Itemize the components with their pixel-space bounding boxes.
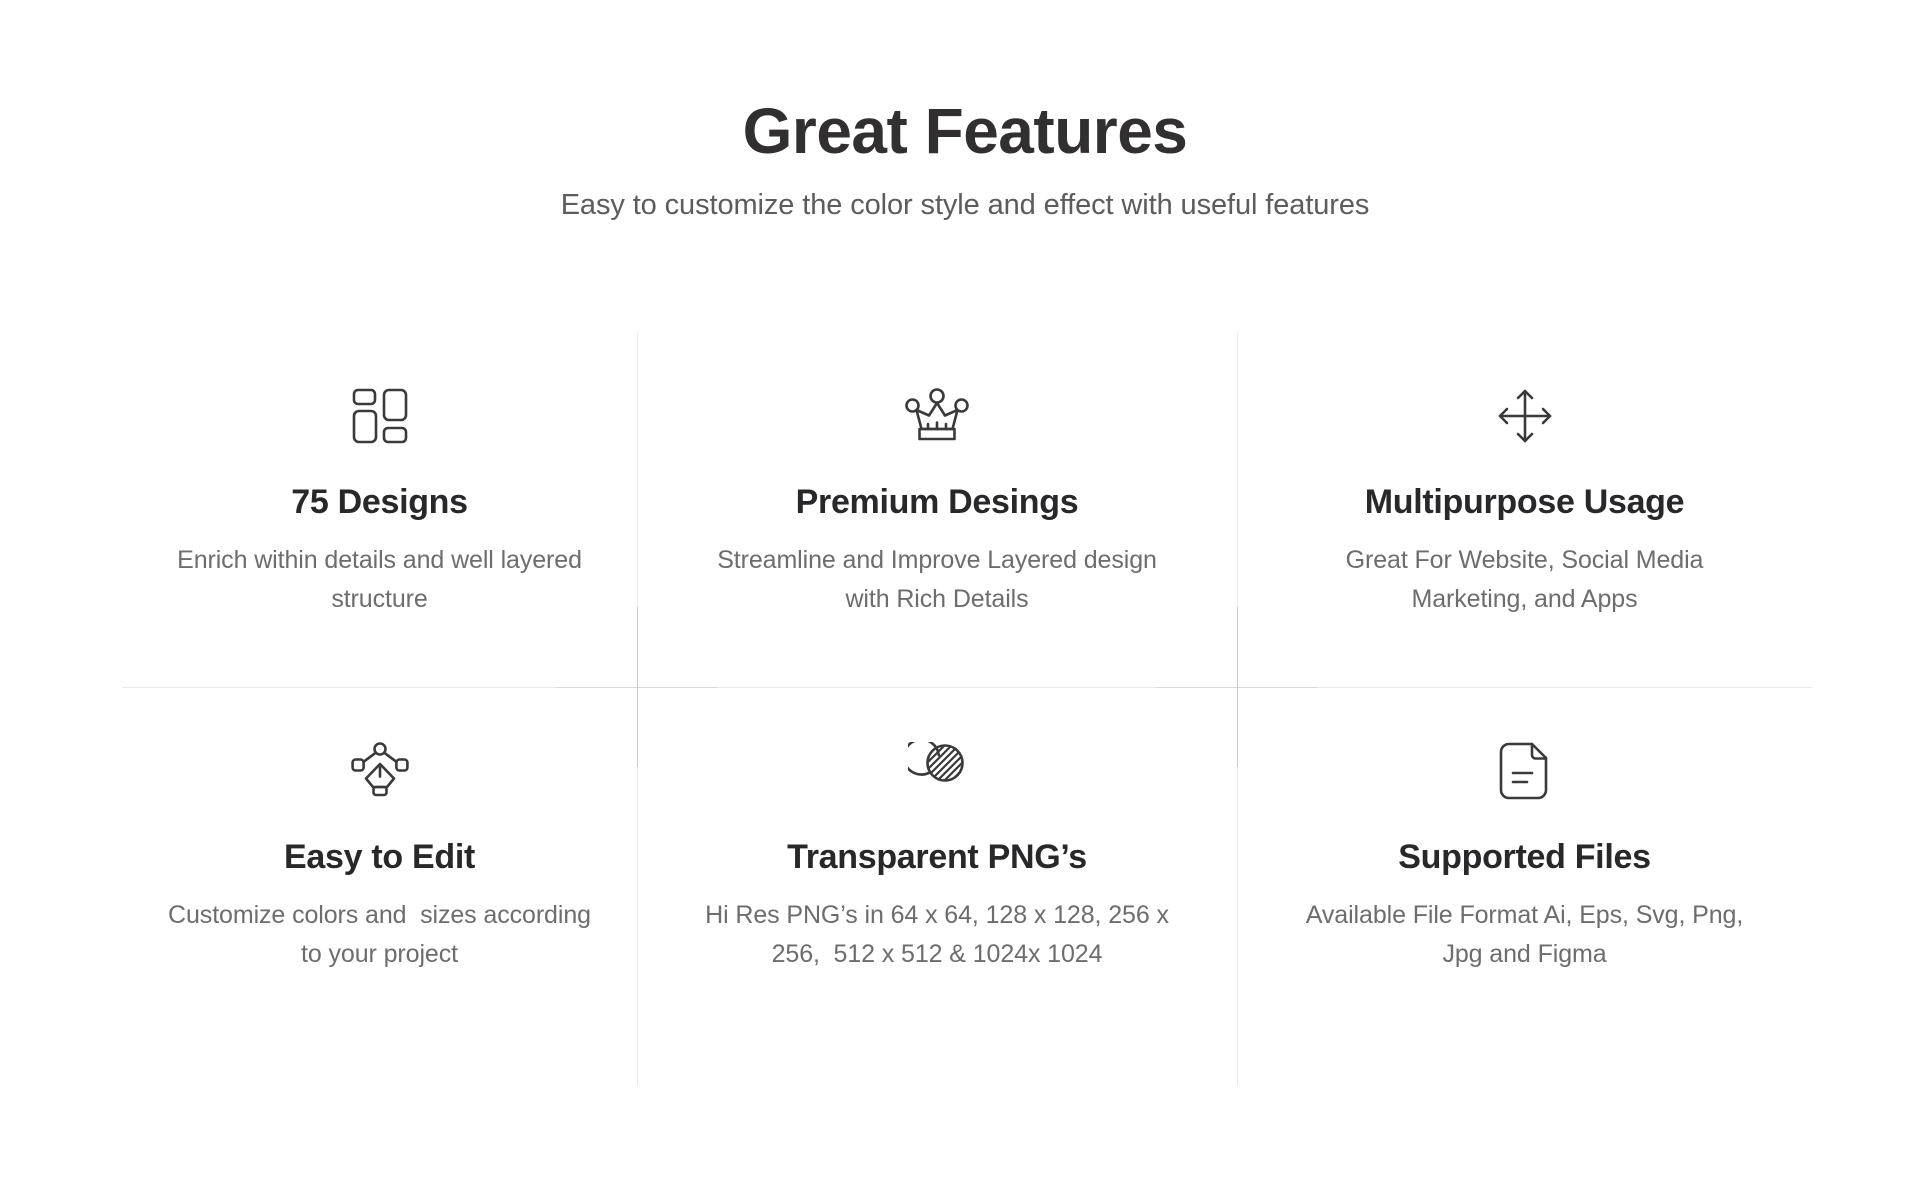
- feature-title: Premium Desings: [796, 482, 1079, 523]
- feature-card-supported-files: Supported Files Available File Format Ai…: [1237, 687, 1812, 1085]
- features-grid: 75 Designs Enrich within details and wel…: [122, 332, 1812, 1085]
- feature-card-easy-edit: Easy to Edit Customize colors and sizes …: [122, 687, 637, 1085]
- pen-tool-icon: [351, 733, 409, 809]
- feature-description: Hi Res PNG’s in 64 x 64, 128 x 128, 256 …: [702, 896, 1172, 975]
- feature-title: 75 Designs: [291, 482, 468, 523]
- feature-description: Enrich within details and well layered s…: [165, 541, 595, 620]
- document-file-icon: [1499, 733, 1551, 809]
- feature-card-multipurpose: Multipurpose Usage Great For Website, So…: [1237, 332, 1812, 687]
- feature-card-designs: 75 Designs Enrich within details and wel…: [122, 332, 637, 687]
- feature-title: Transparent PNG’s: [787, 837, 1087, 878]
- transparency-circles-icon: [908, 733, 966, 809]
- features-page: Great Features Easy to customize the col…: [0, 0, 1930, 1200]
- feature-card-transparent-png: Transparent PNG’s Hi Res PNG’s in 64 x 6…: [637, 687, 1237, 1085]
- crown-icon: [905, 378, 969, 454]
- feature-description: Available File Format Ai, Eps, Svg, Png,…: [1290, 896, 1760, 975]
- feature-description: Customize colors and sizes according to …: [165, 896, 595, 975]
- grid-layout-icon: [351, 378, 409, 454]
- feature-description: Streamline and Improve Layered design wi…: [702, 541, 1172, 620]
- page-subtitle: Easy to customize the color style and ef…: [0, 188, 1930, 223]
- page-title: Great Features: [0, 96, 1930, 168]
- page-header: Great Features Easy to customize the col…: [0, 96, 1930, 222]
- feature-card-premium: Premium Desings Streamline and Improve L…: [637, 332, 1237, 687]
- feature-title: Easy to Edit: [284, 837, 475, 878]
- feature-title: Multipurpose Usage: [1365, 482, 1685, 523]
- feature-title: Supported Files: [1398, 837, 1650, 878]
- move-arrows-icon: [1496, 378, 1554, 454]
- feature-description: Great For Website, Social Media Marketin…: [1290, 541, 1760, 620]
